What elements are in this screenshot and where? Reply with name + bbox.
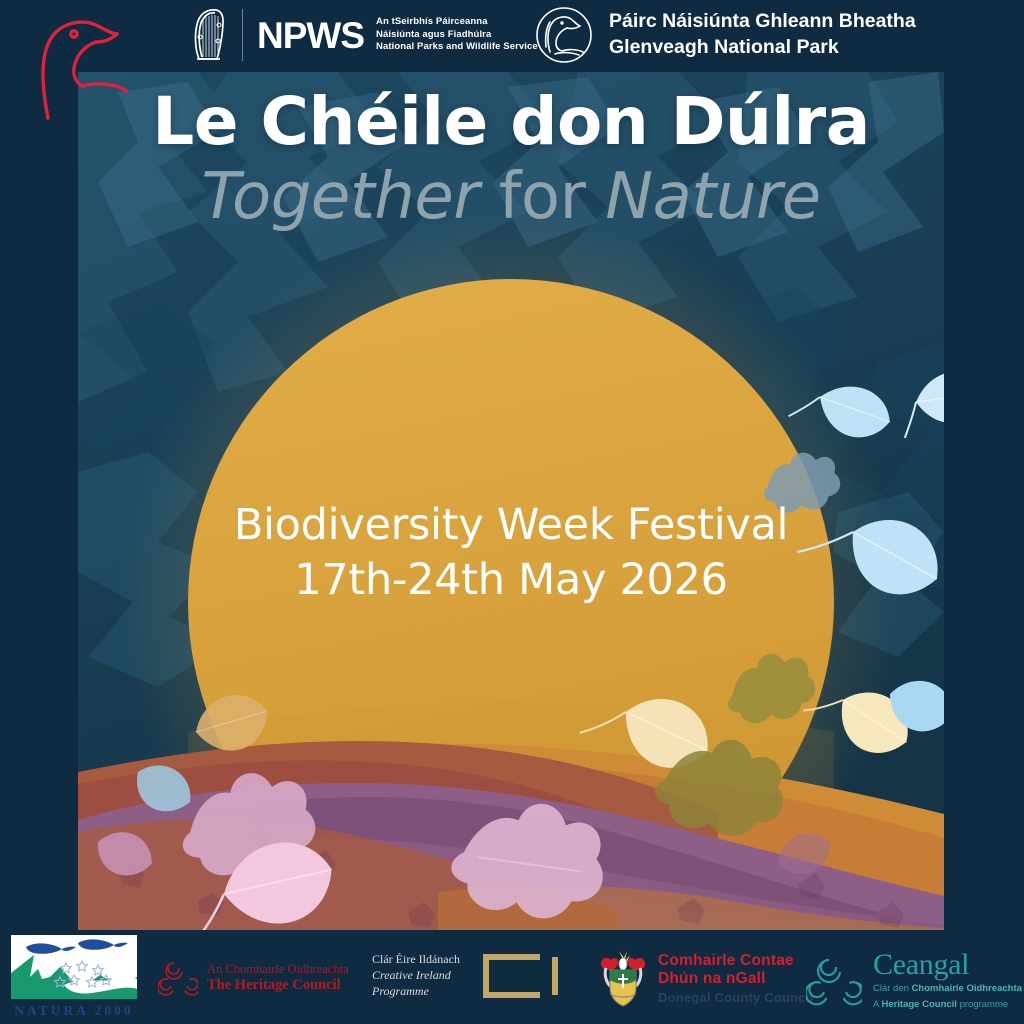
irish-harp-icon <box>190 7 228 63</box>
donegal-coat-of-arms-icon <box>598 948 648 1010</box>
npws-subtitle-line2: Náisiúnta agus Fiadhúlra <box>376 29 538 42</box>
heritage-name-irish: An Chomhairle Oidhreachta <box>207 962 349 977</box>
triple-spiral-icon <box>158 958 198 998</box>
ci-monogram-icon <box>478 954 564 998</box>
poster-canvas: Le Chéile don Dúlra Together for Nature … <box>0 0 1024 1024</box>
creative-name-english: Creative Ireland <box>372 968 460 984</box>
creative-programme-label: Programme <box>372 984 460 1000</box>
heritage-council-logo: An Chomhairle Oidhreachta The Heritage C… <box>158 958 349 998</box>
donegal-name-irish-line1: Comhairle Contae <box>658 952 813 970</box>
npws-subtitle: An tSeirbhís Páirceanna Náisiúnta agus F… <box>376 16 538 54</box>
ceangal-tagline-irish: Clár den Chomhairle Oidhreachta <box>873 983 1022 996</box>
creative-ireland-logo: Clár Éire Ildánach Creative Ireland Prog… <box>372 952 564 999</box>
ceangal-logo: Ceangal Clár den Chomhairle Oidhreachta … <box>806 950 1022 1011</box>
creative-name-irish: Clár Éire Ildánach <box>372 952 460 968</box>
donegal-county-council-logo: Comhairle Contae Dhún na nGall Donegal C… <box>598 948 813 1010</box>
donegal-name-irish-line2: Dhún na nGall <box>658 970 813 988</box>
ceangal-title: Ceangal <box>873 950 1022 980</box>
svg-text:NATURA 2000: NATURA 2000 <box>14 1003 133 1018</box>
glenveagh-circle-icon <box>535 6 593 64</box>
red-goose-head-icon <box>18 6 128 136</box>
glenveagh-name: Páirc Náisiúnta Ghleann Bheatha Glenveag… <box>609 9 916 60</box>
heritage-council-text: An Chomhairle Oidhreachta The Heritage C… <box>207 962 349 994</box>
glenveagh-name-english: Glenveagh National Park <box>609 35 916 61</box>
footer-partner-logos: NATURA 2000 An Chomhairle Oidhreachta Th… <box>0 930 1024 1024</box>
ceangal-tagline-english-suffix: programme <box>957 999 1008 1010</box>
ceangal-text: Ceangal Clár den Chomhairle Oidhreachta … <box>873 950 1022 1011</box>
triple-spiral-icon <box>806 954 862 1008</box>
donegal-name-english: Donegal County Council <box>658 990 813 1006</box>
glenveagh-name-irish: Páirc Náisiúnta Ghleann Bheatha <box>609 9 916 35</box>
logo-divider <box>242 9 243 61</box>
poster-artwork <box>78 72 944 930</box>
npws-subtitle-line3: National Parks and Wildlife Service <box>376 41 538 54</box>
donegal-text: Comhairle Contae Dhún na nGall Donegal C… <box>658 952 813 1006</box>
header-bar: NPWS An tSeirbhís Páirceanna Náisiúnta a… <box>0 0 1024 72</box>
creative-ireland-text: Clár Éire Ildánach Creative Ireland Prog… <box>372 952 460 999</box>
heritage-name-english: The Heritage Council <box>207 977 349 994</box>
glenveagh-logo: Páirc Náisiúnta Ghleann Bheatha Glenveag… <box>535 4 916 66</box>
npws-subtitle-line1: An tSeirbhís Páirceanna <box>376 16 538 29</box>
ceangal-tagline-english: A Heritage Council programme <box>873 999 1022 1012</box>
natura-2000-icon: NATURA 2000 <box>8 933 140 1021</box>
ceangal-tagline-irish-bold: Chomhairle Oidhreachta <box>912 983 1022 994</box>
ceangal-tagline-english-bold: Heritage Council <box>881 999 957 1010</box>
ceangal-tagline-irish-prefix: Clár den <box>873 983 912 994</box>
npws-logo: NPWS An tSeirbhís Páirceanna Náisiúnta a… <box>190 6 538 64</box>
npws-acronym: NPWS <box>257 17 364 54</box>
